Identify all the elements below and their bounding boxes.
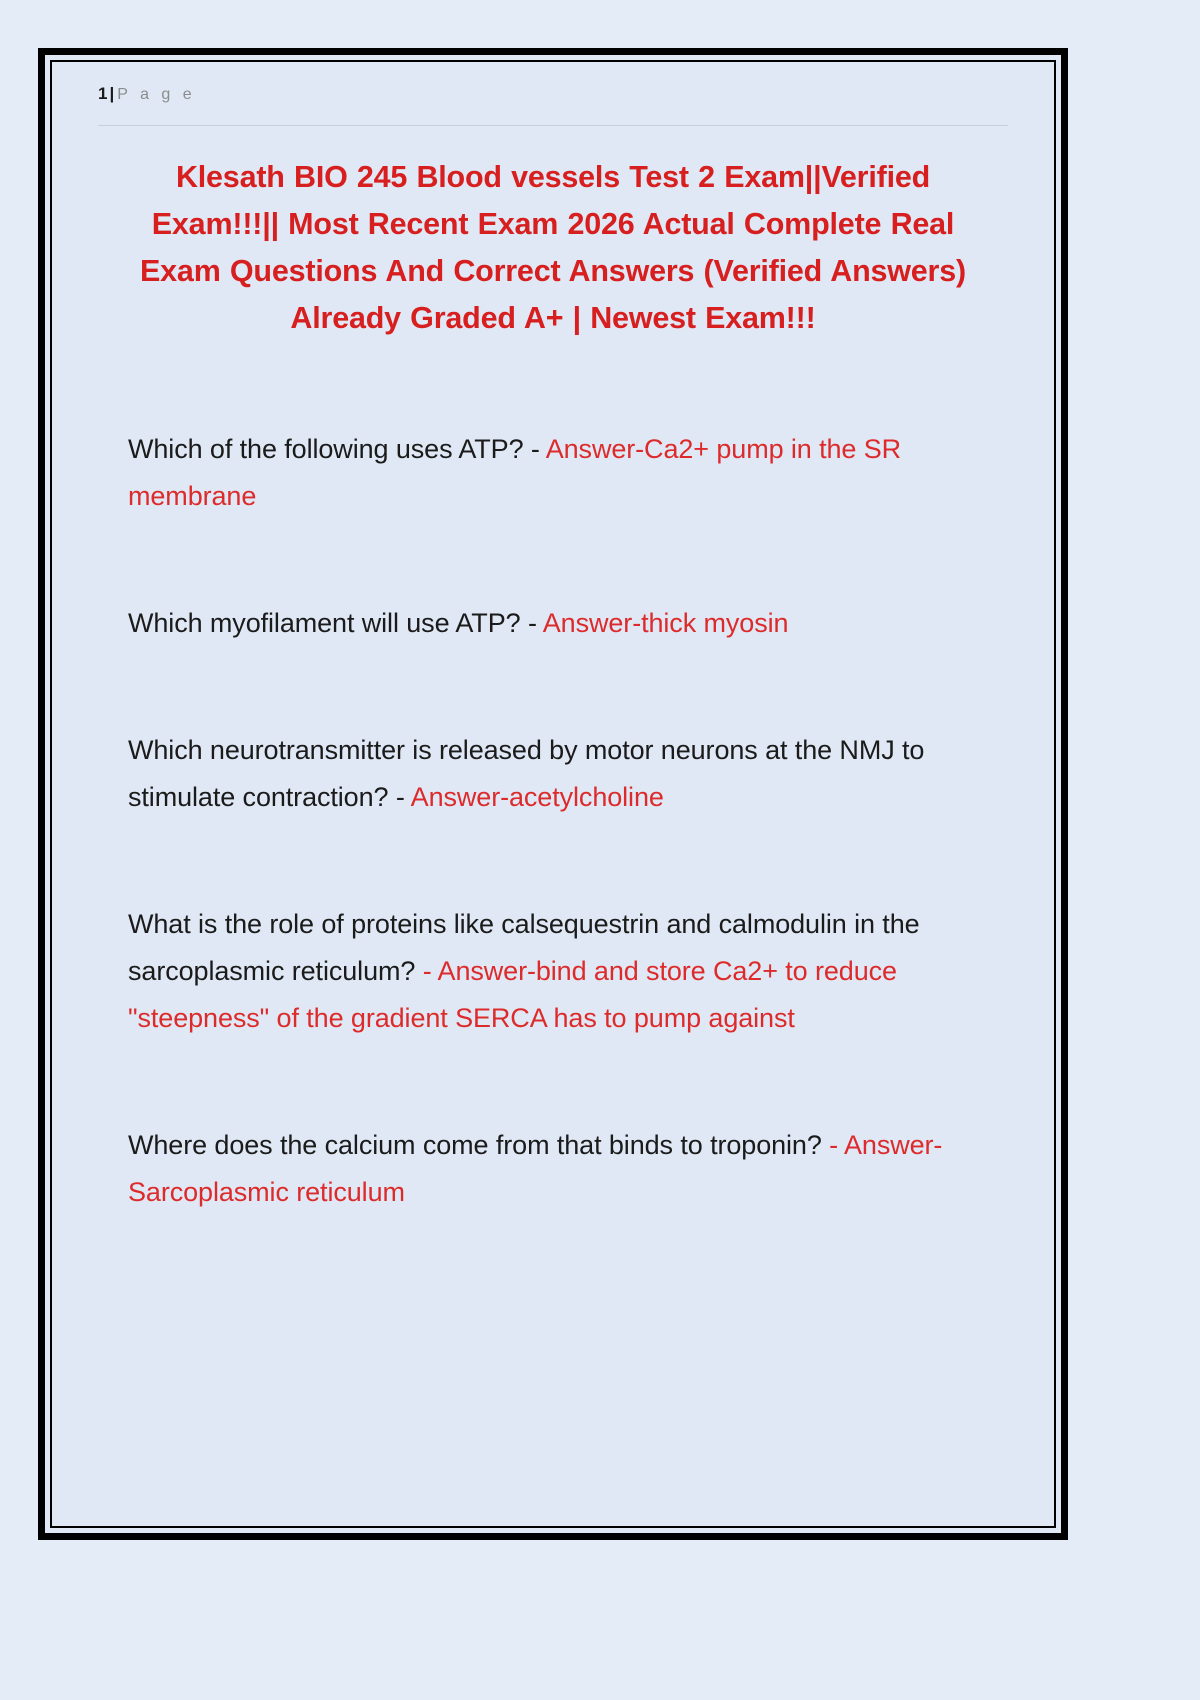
question-text: Which myofilament will use ATP?	[128, 608, 521, 638]
qa-item: Which neurotransmitter is released by mo…	[128, 727, 996, 821]
question-text: Where does the calcium come from that bi…	[128, 1130, 822, 1160]
page-number: 1	[98, 84, 107, 103]
document-title: Klesath BIO 245 Blood vessels Test 2 Exa…	[110, 154, 996, 342]
qa-dash: -	[531, 434, 540, 464]
question-answer-list: Which of the following uses ATP? - Answe…	[128, 426, 996, 1216]
answer-text: Answer-acetylcholine	[411, 782, 664, 812]
document-page-outer-border: 1|P a g e Klesath BIO 245 Blood vessels …	[38, 48, 1068, 1540]
qa-item: Where does the calcium come from that bi…	[128, 1122, 996, 1216]
qa-item: Which of the following uses ATP? - Answe…	[128, 426, 996, 520]
page-header-label: P a g e	[117, 86, 195, 103]
qa-dash: -	[829, 1130, 838, 1160]
qa-item: Which myofilament will use ATP? - Answer…	[128, 600, 996, 647]
question-text: Which of the following uses ATP?	[128, 434, 524, 464]
answer-text: Answer-thick myosin	[543, 608, 789, 638]
page-header: 1|P a g e	[98, 84, 1008, 126]
qa-dash: -	[528, 608, 537, 638]
qa-dash: -	[396, 782, 405, 812]
qa-item: What is the role of proteins like calseq…	[128, 901, 996, 1042]
page-header-separator: |	[109, 84, 114, 103]
document-page: 1|P a g e Klesath BIO 245 Blood vessels …	[50, 60, 1056, 1528]
document-page-border-gap: 1|P a g e Klesath BIO 245 Blood vessels …	[45, 55, 1061, 1533]
qa-dash: -	[423, 956, 432, 986]
